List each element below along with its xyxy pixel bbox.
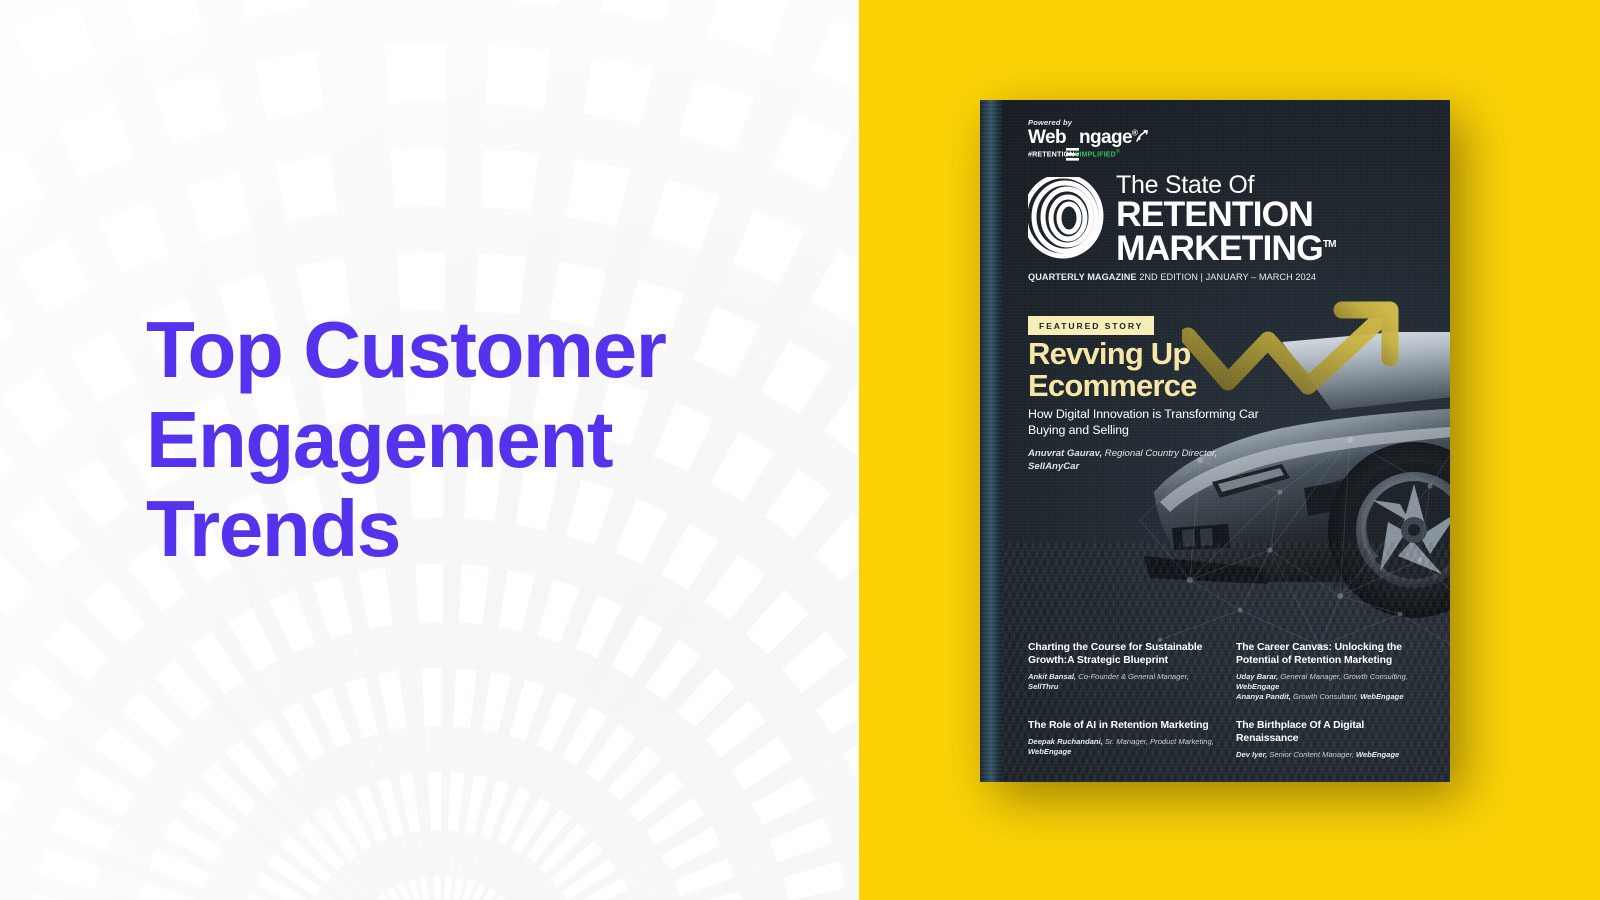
webengage-arrow-icon [1136, 129, 1148, 141]
issue-line: QUARTERLY MAGAZINE 2ND EDITION | JANUARY… [1028, 272, 1316, 282]
trademark-mark: TM [1323, 239, 1336, 250]
spiral-rings-logo [1028, 177, 1110, 259]
magazine-cover: Powered by Web ngage® [980, 100, 1450, 782]
feature-title-line-2: Ecommerce [1028, 370, 1258, 402]
powered-by-label: Powered by [1028, 118, 1072, 127]
list-item[interactable]: The Career Canvas: Unlocking the Potenti… [1236, 641, 1428, 703]
page-title: Top Customer Engagement Trends [146, 305, 786, 574]
masthead: The State Of RETENTION MARKETINGTM [1028, 170, 1428, 266]
article-list: Charting the Course for Sustainable Grow… [1028, 641, 1428, 760]
article-title: The Role of AI in Retention Marketing [1028, 719, 1220, 732]
headline-line-3: Trends [146, 484, 786, 574]
feature-subtitle: How Digital Innovation is Transforming C… [1028, 406, 1263, 439]
headline-line-1: Top Customer [146, 305, 786, 395]
article-byline: Deepak Ruchandani, Sr. Manager, Product … [1028, 737, 1220, 757]
article-byline: Ankit Bansal, Co-Founder & General Manag… [1028, 672, 1220, 692]
feature-title-line-1: Revving Up [1028, 338, 1258, 370]
article-byline: Dev Iyer, Senior Content Manager, WebEng… [1236, 750, 1428, 760]
masthead-text: The State Of RETENTION MARKETINGTM [1116, 170, 1336, 266]
list-item[interactable]: The Birthplace Of A Digital Renaissance … [1236, 719, 1428, 760]
webengage-logo: Web ngage® [1028, 128, 1148, 147]
headline-line-2: Engagement [146, 395, 786, 485]
status-badge: FEATURED STORY [1028, 316, 1154, 335]
magazine-front-cover: Powered by Web ngage® [1002, 100, 1450, 782]
masthead-line-2: MARKETINGTM [1116, 232, 1336, 266]
left-panel: Top Customer Engagement Trends [0, 0, 859, 900]
list-item[interactable]: The Role of AI in Retention Marketing De… [1028, 719, 1220, 760]
article-title: The Birthplace Of A Digital Renaissance [1236, 719, 1428, 745]
feature-title: Revving Up Ecommerce [1028, 338, 1258, 402]
article-title: Charting the Course for Sustainable Grow… [1028, 641, 1220, 667]
article-title: The Career Canvas: Unlocking the Potenti… [1236, 641, 1428, 667]
feature-byline: Anuvrat Gaurav, Regional Country Directo… [1028, 448, 1258, 473]
webengage-wordmark: Web ngage® [1028, 128, 1137, 147]
masthead-line-1: RETENTION [1116, 198, 1336, 232]
promo-banner: Top Customer Engagement Trends [0, 0, 1600, 900]
right-panel: Powered by Web ngage® [859, 0, 1600, 900]
magazine-spine [980, 100, 1002, 782]
article-byline: Uday Barar, General Manager, Growth Cons… [1236, 672, 1428, 703]
list-item[interactable]: Charting the Course for Sustainable Grow… [1028, 641, 1220, 703]
webengage-tagline: #RETENTIONSIMPLIFIED® [1028, 149, 1120, 158]
